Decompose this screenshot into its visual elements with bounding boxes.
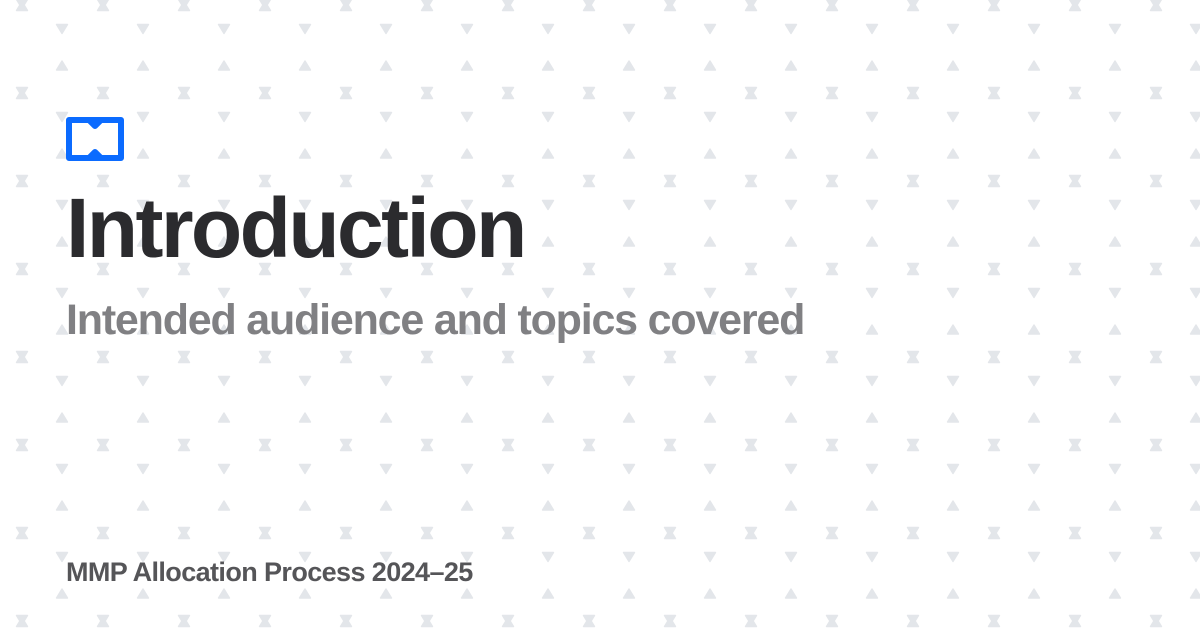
slide-content: Introduction Intended audience and topic…: [0, 0, 1200, 630]
footer-caption: MMP Allocation Process 2024–25: [66, 558, 473, 588]
slide-canvas: Introduction Intended audience and topic…: [0, 0, 1200, 630]
open-book-icon: [66, 117, 124, 161]
page-subtitle: Intended audience and topics covered: [66, 296, 804, 344]
page-title: Introduction: [66, 186, 525, 270]
